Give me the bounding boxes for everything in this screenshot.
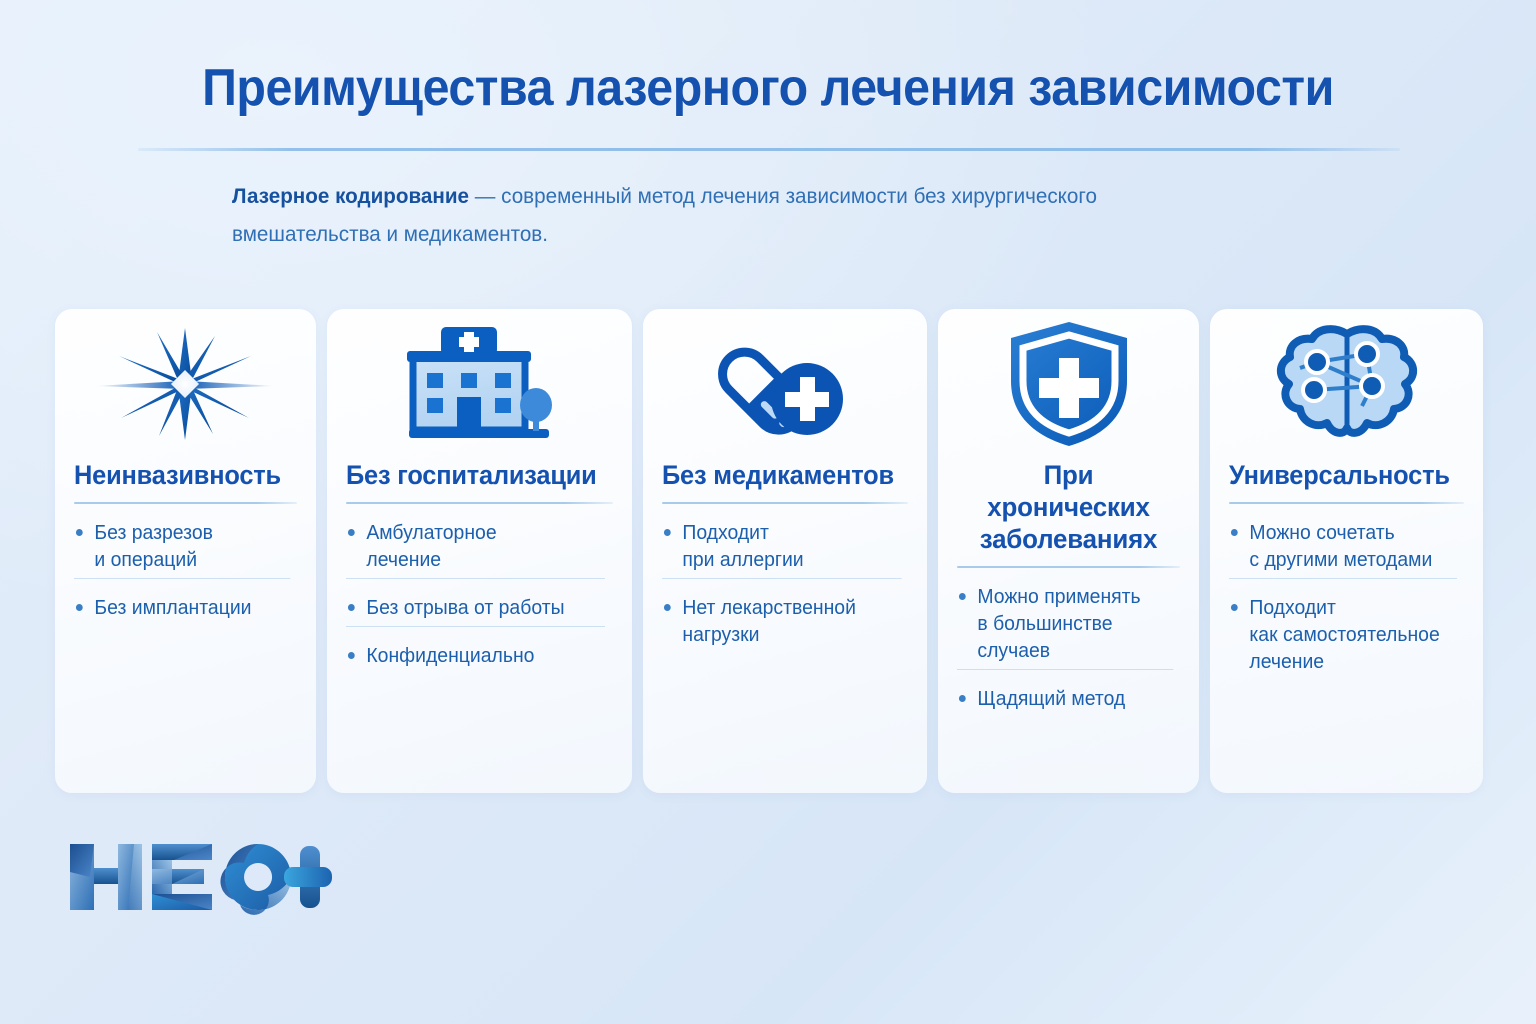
bullet-list: Амбулаторное лечение Без отрыва от работ… (346, 504, 613, 674)
bullet-text: Амбулаторное лечение (366, 522, 496, 571)
card-title: Универсальность (1229, 459, 1450, 491)
bullet-text: Без разрезов и операций (94, 522, 213, 571)
card-title: Без госпитализации (346, 459, 597, 491)
bullet-list: Без разрезов и операций Без имплантации (74, 504, 297, 626)
bullet-dot-icon (663, 529, 670, 536)
card-title: При хронических заболеваниях (962, 459, 1176, 555)
bullet-dot-icon (76, 604, 83, 611)
bullet-list: Можно сочетать с другими методами Подход… (1229, 504, 1464, 680)
bullet-text: Можно применять в большинстве случаев (978, 586, 1141, 662)
bullet-text: Без имплантации (94, 597, 251, 619)
benefit-card-no-medication[interactable]: Без медикаментов Подходит при аллергии Н… (643, 309, 928, 793)
bullet-dot-icon (348, 652, 355, 659)
laser-burst-icon (74, 309, 297, 459)
pill-capsule-icon (662, 309, 909, 459)
shield-cross-icon (957, 309, 1180, 459)
brand-logo[interactable]: НЕО+ (62, 838, 332, 916)
bullet-dot-icon (348, 604, 355, 611)
bullet-text: Без отрыва от работы (366, 597, 564, 619)
list-item: Нет лекарственной нагрузки (662, 578, 901, 653)
list-item: Амбулаторное лечение (346, 504, 605, 578)
bullet-text: Щадящий метод (978, 688, 1126, 710)
list-item: Подходит при аллергии (662, 504, 901, 578)
list-item: Щадящий метод (957, 669, 1173, 717)
list-item: Можно сочетать с другими методами (1229, 504, 1457, 578)
list-item: Без разрезов и операций (74, 504, 290, 578)
list-item: Без имплантации (74, 578, 290, 626)
benefit-card-list: Неинвазивность Без разрезов и операций Б… (55, 309, 1483, 793)
infographic-poster: Преимущества лазерного лечения зависимос… (0, 0, 1536, 1024)
bullet-dot-icon (959, 695, 966, 702)
bullet-dot-icon (1231, 529, 1238, 536)
subtitle-lead: Лазерное кодирование (232, 184, 469, 208)
benefit-card-noninvasive[interactable]: Неинвазивность Без разрезов и операций Б… (55, 309, 316, 793)
bullet-dot-icon (959, 593, 966, 600)
bullet-list: Подходит при аллергии Нет лекарственной … (662, 504, 909, 653)
benefit-card-chronic-diseases[interactable]: При хронических заболеваниях Можно приме… (938, 309, 1199, 793)
list-item: Можно применять в большинстве случаев (957, 568, 1173, 669)
page-title: Преимущества лазерного лечения зависимос… (54, 58, 1482, 118)
list-item: Подходит как самостоятельное лечение (1229, 578, 1457, 680)
bullet-dot-icon (663, 604, 670, 611)
brain-network-icon (1229, 309, 1464, 459)
bullet-text: Подходит при аллергии (682, 522, 803, 571)
bullet-dot-icon (1231, 604, 1238, 611)
list-item: Без отрыва от работы (346, 578, 605, 626)
benefit-card-versatility[interactable]: Универсальность Можно сочетать с другими… (1210, 309, 1483, 793)
bullet-text: Можно сочетать с другими методами (1250, 522, 1433, 571)
bullet-list: Можно применять в большинстве случаев Ща… (957, 568, 1180, 717)
hospital-building-icon (346, 309, 613, 459)
card-title: Неинвазивность (74, 459, 284, 491)
card-title: Без медикаментов (662, 459, 894, 491)
bullet-text: Подходит как самостоятельное лечение (1250, 597, 1440, 673)
benefit-card-no-hospitalization[interactable]: Без госпитализации Амбулаторное лечение … (327, 309, 632, 793)
bullet-dot-icon (348, 529, 355, 536)
subtitle: Лазерное кодирование — современный метод… (232, 177, 1134, 253)
list-item: Конфиденциально (346, 626, 605, 674)
bullet-text: Нет лекарственной нагрузки (682, 597, 856, 646)
bullet-text: Конфиденциально (366, 645, 534, 667)
bullet-dot-icon (76, 529, 83, 536)
title-divider (138, 148, 1400, 151)
